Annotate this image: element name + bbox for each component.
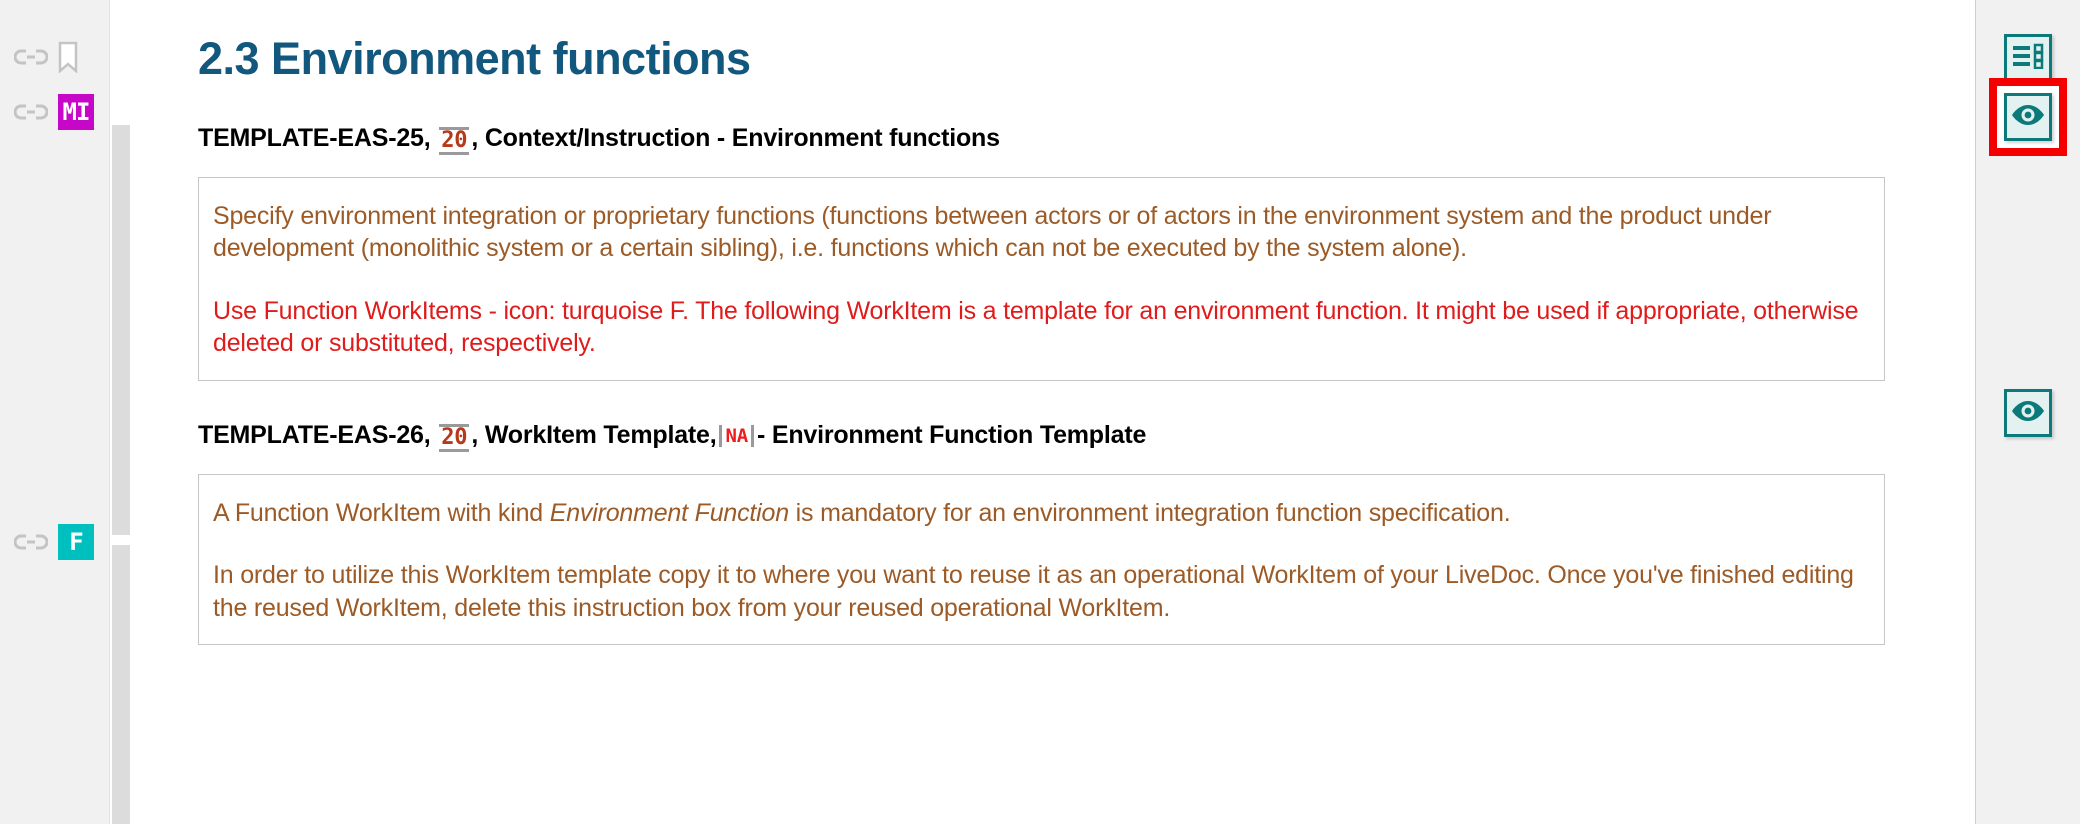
- status-badge-na: NA: [719, 425, 753, 448]
- toolbar-button-show-hide-2[interactable]: [2004, 389, 2052, 437]
- section-indicator-bar-2: [112, 545, 130, 824]
- section-indicator-bar-1: [112, 125, 130, 535]
- page-title: 2.3 Environment functions: [198, 0, 1975, 84]
- gutter-row-link-bookmark: [14, 39, 78, 75]
- revision-badge: 20: [439, 424, 469, 452]
- instruction-paragraph: In order to utilize this WorkItem templa…: [213, 559, 1870, 624]
- meta-description: - Environment Function Template: [757, 421, 1146, 449]
- instruction-paragraph: Specify environment integration or propr…: [213, 200, 1870, 265]
- meta-separator-1: ,: [424, 124, 438, 152]
- meta-separator-2: ,: [471, 124, 485, 152]
- text-after-italic: is mandatory for an environment integrat…: [789, 499, 1511, 527]
- gutter-row-link-mi: MI: [14, 94, 94, 130]
- italic-kind-name: Environment Function: [550, 499, 789, 527]
- bookmark-icon[interactable]: [58, 41, 78, 73]
- link-icon[interactable]: [14, 532, 48, 552]
- workitem-id: TEMPLATE-EAS-26: [198, 421, 424, 449]
- application-root: MI F 2.3 Environment functions TE: [0, 0, 2080, 824]
- toolbar-button-show-hide[interactable]: [2004, 93, 2052, 141]
- meta-separator-1: ,: [424, 421, 438, 449]
- workitem-id: TEMPLATE-EAS-25: [198, 124, 424, 152]
- instruction-box-26: A Function WorkItem with kind Environmen…: [198, 474, 1885, 646]
- instruction-paragraph: A Function WorkItem with kind Environmen…: [213, 497, 1870, 530]
- workitem-meta-line-25: TEMPLATE-EAS-25, 20, Context/Instruction…: [198, 124, 1975, 155]
- gutter-row-link-f: F: [14, 524, 94, 560]
- eye-icon: [2011, 104, 2045, 131]
- text-before-italic: A Function WorkItem with kind: [213, 499, 550, 527]
- link-icon[interactable]: [14, 47, 48, 67]
- highlight-box-show-hide: [1989, 78, 2067, 156]
- instruction-box-25: Specify environment integration or propr…: [198, 177, 1885, 381]
- meta-middle: WorkItem Template,: [485, 421, 717, 449]
- link-icon[interactable]: [14, 102, 48, 122]
- instruction-paragraph-warning: Use Function WorkItems - icon: turquoise…: [213, 295, 1870, 360]
- workitem-kind-badge-f[interactable]: F: [58, 524, 94, 560]
- toolbar-button-outline[interactable]: [2004, 34, 2052, 82]
- revision-badge: 20: [439, 127, 469, 155]
- eye-icon: [2011, 400, 2045, 427]
- meta-description: Context/Instruction - Environment functi…: [485, 124, 1000, 152]
- right-toolbar-panel: [1975, 0, 2080, 824]
- workitem-meta-line-26: TEMPLATE-EAS-26, 20, WorkItem Template,N…: [198, 421, 1975, 452]
- list-outline-icon: [2012, 43, 2044, 74]
- left-gutter: MI F: [0, 0, 110, 824]
- document-content-area: 2.3 Environment functions TEMPLATE-EAS-2…: [130, 0, 1975, 824]
- meta-separator-2: ,: [471, 421, 485, 449]
- workitem-kind-badge-mi[interactable]: MI: [58, 94, 94, 130]
